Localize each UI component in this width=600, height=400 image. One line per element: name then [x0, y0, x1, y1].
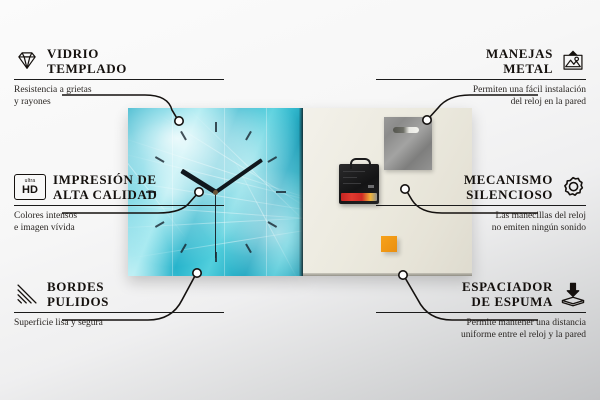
mechanism-detail: [343, 171, 365, 172]
feature-description: Superficie lisa y segura: [14, 317, 224, 330]
feature-description: Las manecillas del reloj no emiten ningú…: [376, 210, 586, 235]
feature-manejas-metal: MANEJAS METAL Permiten una fácil instala…: [376, 46, 586, 109]
feature-espaciador-de-espuma: ESPACIADOR DE ESPUMA Permite mantener un…: [376, 279, 586, 342]
feature-head: ultra HD IMPRESIÓN DE ALTA CALIDAD: [14, 172, 224, 205]
feature-description: Colores intensos e imagen vívida: [14, 210, 224, 235]
foam-spacer-icon: [560, 281, 586, 307]
mechanism-battery: [341, 193, 377, 201]
feature-head: ESPACIADOR DE ESPUMA: [376, 279, 586, 312]
diamond-icon: [14, 48, 40, 74]
feature-description: Permite mantener una distancia uniforme …: [376, 317, 586, 342]
feature-bordes-pulidos: BORDES PULIDOS Superficie lisa y segura: [14, 279, 224, 329]
feature-title: MECANISMO SILENCIOSO: [464, 172, 553, 203]
feature-title: BORDES PULIDOS: [47, 279, 109, 310]
feature-head: MANEJAS METAL: [376, 46, 586, 79]
feature-title: IMPRESIÓN DE ALTA CALIDAD: [53, 172, 157, 203]
product-infographic: VIDRIO TEMPLADO Resistencia a grietas y …: [0, 0, 600, 400]
feature-rule: [376, 312, 586, 313]
feature-description: Resistencia a grietas y rayones: [14, 84, 224, 109]
clock-mechanism: [339, 164, 379, 204]
picture-hanger-icon: [560, 48, 586, 74]
feature-rule: [376, 205, 586, 206]
feature-head: BORDES PULIDOS: [14, 279, 224, 312]
feature-rule: [14, 312, 224, 313]
mechanism-detail: [343, 183, 361, 184]
mechanism-hanging-loop: [350, 158, 371, 169]
clock-tick: [216, 191, 286, 193]
feature-head: MECANISMO SILENCIOSO: [376, 172, 586, 205]
gear-icon: [560, 174, 586, 200]
feature-impresion-alta-calidad: ultra HD IMPRESIÓN DE ALTA CALIDAD Color…: [14, 172, 224, 235]
feature-rule: [14, 205, 224, 206]
hanger-keyhole-slot: [393, 127, 419, 133]
feature-vidrio-templado: VIDRIO TEMPLADO Resistencia a grietas y …: [14, 46, 224, 109]
mechanism-detail: [368, 185, 374, 188]
mechanism-detail: [343, 177, 357, 178]
feature-rule: [14, 79, 224, 80]
back-panel-edge: [303, 273, 472, 276]
feature-head: VIDRIO TEMPLADO: [14, 46, 224, 79]
feature-title: ESPACIADOR DE ESPUMA: [462, 279, 553, 310]
foam-spacer: [381, 236, 397, 252]
feature-title: MANEJAS METAL: [486, 46, 553, 77]
ultra-hd-icon: ultra HD: [14, 174, 46, 200]
metal-hanger-plate: [384, 117, 432, 170]
feature-title: VIDRIO TEMPLADO: [47, 46, 127, 77]
feature-description: Permiten una fácil instalación del reloj…: [376, 84, 586, 109]
feature-rule: [376, 79, 586, 80]
feature-mecanismo-silencioso: MECANISMO SILENCIOSO Las manecillas del …: [376, 172, 586, 235]
polished-edges-icon: [14, 281, 40, 307]
ultra-hd-icon-main-text: HD: [22, 185, 38, 196]
